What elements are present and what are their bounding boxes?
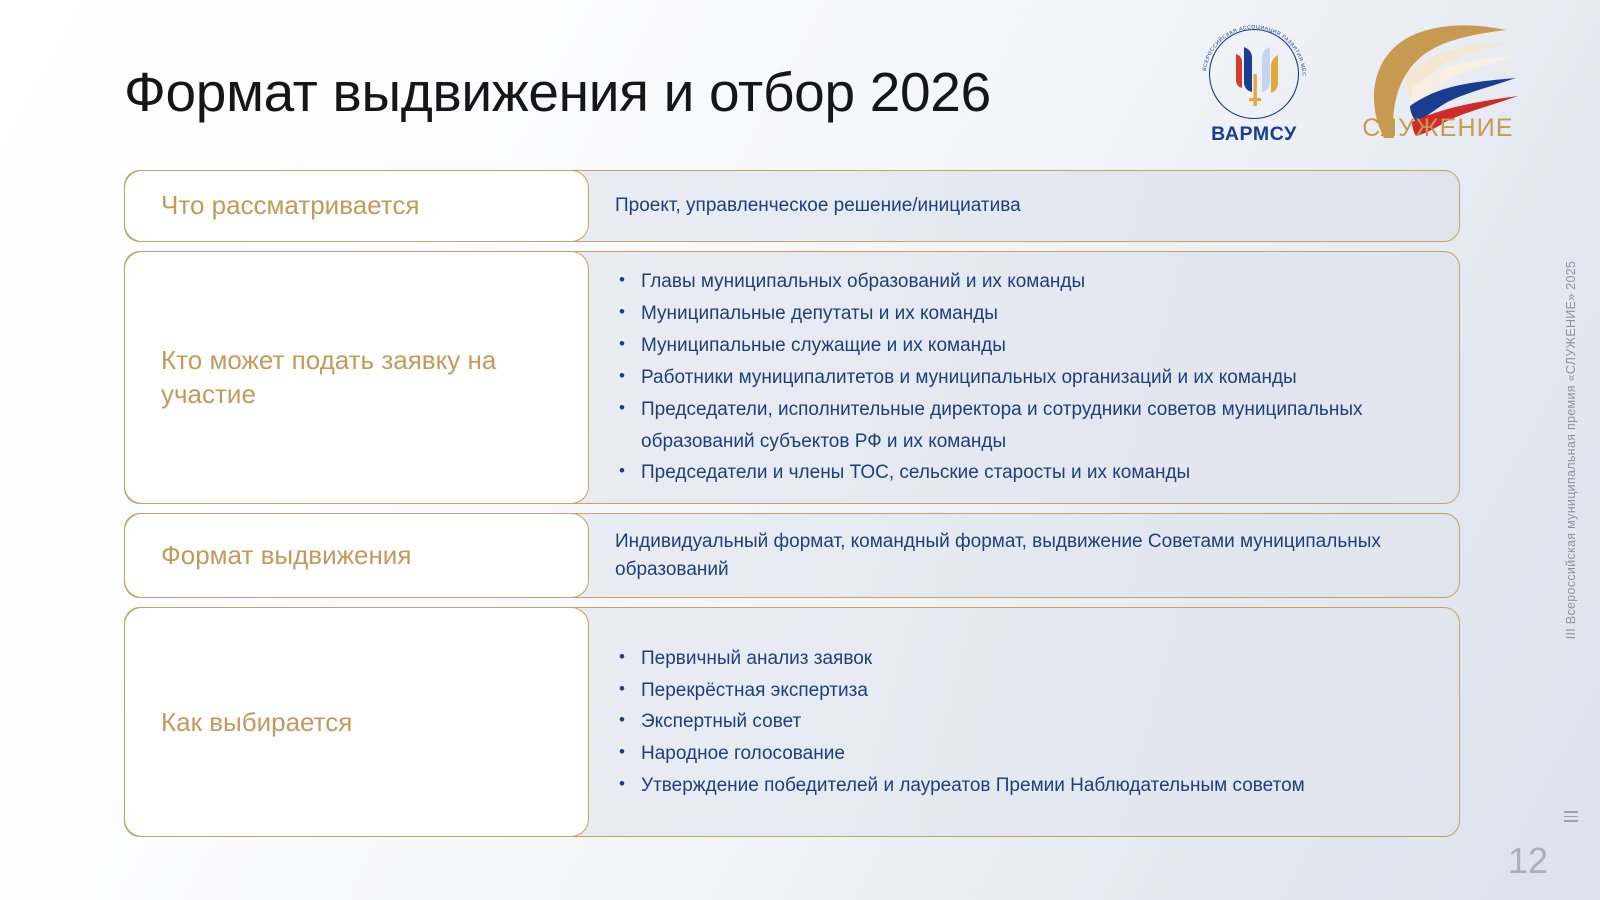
list-item: Муниципальные депутаты и их команды [615,298,1405,330]
row-3-label-card[interactable]: Формат выдвижения [124,513,589,598]
row-4-label-card[interactable]: Как выбирается [124,607,589,837]
row-4-label: Как выбирается [161,706,352,740]
slide-canvas: Формат выдвижения и отбор 2026 ВСЕРОССИЙ… [0,0,1600,900]
side-caption: III Всероссийская муниципальная премия «… [1564,261,1578,639]
row-nomination-format: Индивидуальный формат, командный формат,… [124,513,1460,598]
row-2-label: Кто может подать заявку на участие [161,344,552,412]
row-1-text: Проект, управленческое решение/инициатив… [615,192,1021,220]
list-item: Утверждение победителей и лауреатов Прем… [615,770,1305,802]
row-2-bullet-list: Главы муниципальных образований и их ком… [615,266,1405,489]
row-how-selected: Первичный анализ заявок Перекрёстная экс… [124,607,1460,837]
menu-icon [1564,811,1578,822]
list-item: Муниципальные служащие и их команды [615,330,1405,362]
varmsu-logo: ВСЕРОССИЙСКАЯ АССОЦИАЦИЯ РАЗВИТИЯ МЕСТНО… [1192,14,1316,146]
list-item: Первичный анализ заявок [615,643,1305,675]
sluzhenie-logo: СЛУЖЕНИЕ [1346,16,1524,144]
row-who-can-apply: Главы муниципальных образований и их ком… [124,251,1460,504]
list-item: Главы муниципальных образований и их ком… [615,266,1405,298]
list-item: Работники муниципалитетов и муниципальны… [615,362,1405,394]
content-rows: Проект, управленческое решение/инициатив… [124,170,1460,846]
row-4-bullet-list: Первичный анализ заявок Перекрёстная экс… [615,643,1305,803]
row-3-label: Формат выдвижения [161,539,411,573]
list-item: Перекрёстная экспертиза [615,675,1305,707]
menu-icon-bar [1564,820,1578,822]
page-number: 12 [1508,840,1548,882]
svg-text:ВАРМСУ: ВАРМСУ [1211,123,1297,145]
logo-group: ВСЕРОССИЙСКАЯ АССОЦИАЦИЯ РАЗВИТИЯ МЕСТНО… [1192,14,1524,146]
svg-text:СЛУЖЕНИЕ: СЛУЖЕНИЕ [1362,114,1514,142]
list-item: Экспертный совет [615,706,1305,738]
menu-icon-bar [1564,811,1578,813]
row-3-text: Индивидуальный формат, командный формат,… [615,528,1415,583]
list-item: Председатели и члены ТОС, сельские старо… [615,457,1405,489]
row-1-label-card[interactable]: Что рассматривается [124,170,589,242]
row-1-label: Что рассматривается [161,189,419,223]
list-item: Председатели, исполнительные директора и… [615,394,1405,458]
row-what-is-considered: Проект, управленческое решение/инициатив… [124,170,1460,242]
row-2-label-card[interactable]: Кто может подать заявку на участие [124,251,589,504]
list-item: Народное голосование [615,738,1305,770]
page-title: Формат выдвижения и отбор 2026 [124,62,991,124]
menu-icon-bar [1564,816,1578,818]
